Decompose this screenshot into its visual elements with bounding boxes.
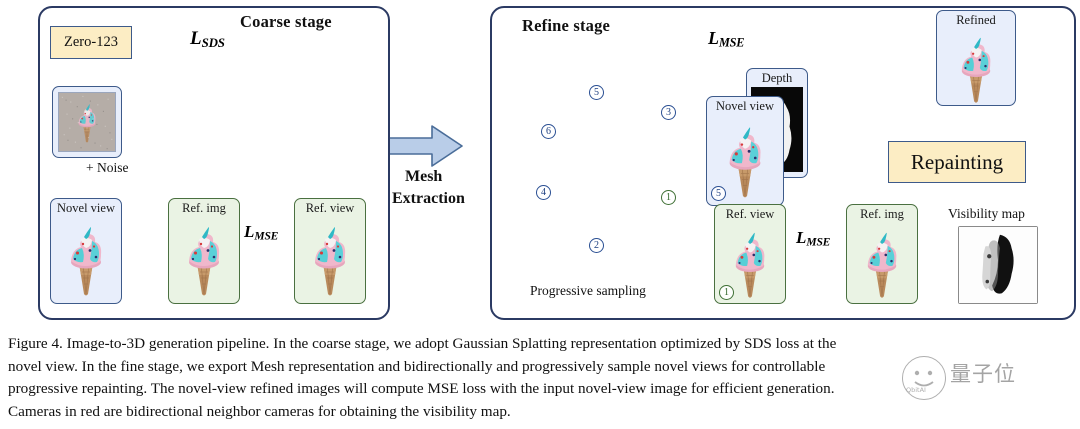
coarse-mse-loss-label: LMSE xyxy=(244,222,278,243)
camera-badge-5: 5 xyxy=(589,85,604,100)
camera-badge-1: 1 xyxy=(661,190,676,205)
camera-badge-6: 6 xyxy=(541,124,556,139)
refine-novel-view-label: Novel view xyxy=(707,99,783,114)
coarse-stage-title: Coarse stage xyxy=(240,12,332,32)
refine-stage-title: Refine stage xyxy=(522,16,610,36)
refine-ref-img-card: Ref. img xyxy=(846,204,918,304)
coarse-ref-view-card: Ref. view xyxy=(294,198,366,304)
figure-root: Coarse stage Zero-123 LSDS xyxy=(0,0,1080,429)
coarse-ref-view-thumb xyxy=(305,219,355,299)
coarse-novel-view-thumb xyxy=(61,219,111,299)
visibility-map-label: Visibility map xyxy=(948,206,1025,222)
sds-loss-base: L xyxy=(190,28,202,49)
refine-ref-view-card: Ref. view 1 xyxy=(714,204,786,304)
refined-label: Refined xyxy=(937,13,1015,28)
progressive-sampling-label: Progressive sampling xyxy=(530,283,646,299)
refined-card: Refined xyxy=(936,10,1016,106)
refine-novel-view-badge: 5 xyxy=(711,186,726,201)
depth-label: Depth xyxy=(747,71,807,86)
camera-badge-2: 2 xyxy=(589,238,604,253)
refine-novel-view-card: Novel view 5 xyxy=(706,96,784,206)
refine-ref-view-badge: 1 xyxy=(719,285,734,300)
refine-mse-bottom-base: L xyxy=(796,228,806,247)
refine-mse-top-base: L xyxy=(708,28,719,48)
visibility-map-card xyxy=(958,226,1038,304)
coarse-ref-img-label: Ref. img xyxy=(169,201,239,216)
camera-badge-3: 3 xyxy=(661,105,676,120)
refine-ref-img-thumb xyxy=(858,225,906,301)
zero123-box[interactable]: Zero-123 xyxy=(50,26,132,59)
sds-loss-label: LSDS xyxy=(190,28,225,51)
watermark: 量子位 QbitAI xyxy=(898,352,1074,404)
noisy-image-card xyxy=(52,86,122,158)
sds-loss-sub: SDS xyxy=(202,35,225,50)
watermark-subtext: QbitAI xyxy=(906,386,926,394)
refine-ref-img-label: Ref. img xyxy=(847,207,917,222)
mesh-extraction-arrow xyxy=(386,126,462,166)
noisy-thumbnail xyxy=(59,93,115,151)
zero123-label: Zero-123 xyxy=(64,34,118,51)
coarse-novel-view-card: Novel view xyxy=(50,198,122,304)
coarse-ref-img-thumb xyxy=(179,219,229,299)
coarse-ref-img-card: Ref. img xyxy=(168,198,240,304)
refine-mse-bottom-sub: MSE xyxy=(806,236,830,249)
mesh-extraction-line1: Mesh xyxy=(405,168,442,186)
refine-novel-view-thumb xyxy=(719,119,771,201)
refine-ref-view-label: Ref. view xyxy=(715,207,785,222)
noise-label: + Noise xyxy=(86,160,128,176)
coarse-ref-view-label: Ref. view xyxy=(295,201,365,216)
watermark-text: 量子位 xyxy=(950,358,1016,388)
refined-thumb xyxy=(951,30,1001,106)
coarse-mse-base: L xyxy=(244,222,254,241)
refine-mse-bottom-label: LMSE xyxy=(796,228,830,249)
mesh-extraction-line2: Extraction xyxy=(392,190,465,208)
repainting-box[interactable]: Repainting xyxy=(888,141,1026,183)
visibility-map-thumb xyxy=(959,227,1037,303)
caption-line-4: Cameras in red are bidirectional neighbo… xyxy=(8,401,1072,424)
coarse-mse-sub: MSE xyxy=(254,230,278,243)
repainting-label: Repainting xyxy=(911,150,1003,175)
refine-mse-top-sub: MSE xyxy=(719,36,744,50)
coarse-novel-view-label: Novel view xyxy=(51,201,121,216)
camera-badge-4: 4 xyxy=(536,185,551,200)
refine-mse-top-label: LMSE xyxy=(708,28,744,51)
